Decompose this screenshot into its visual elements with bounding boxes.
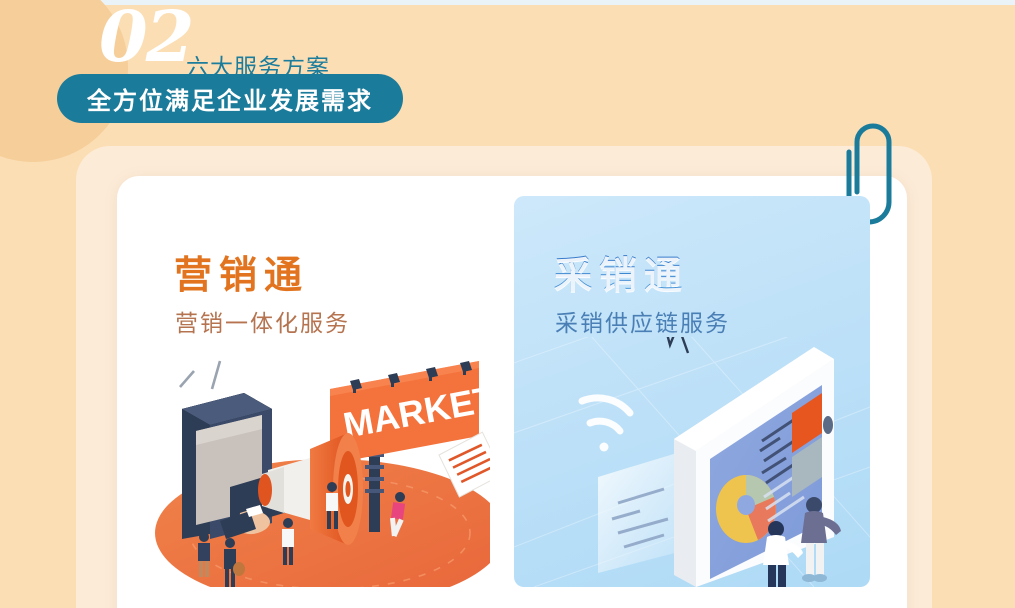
section-number: 02 xyxy=(99,2,192,72)
wifi-icon xyxy=(582,398,630,452)
service-card-marketing[interactable]: 营销通 营销一体化服务 xyxy=(134,196,490,587)
card-title: 采销通 xyxy=(554,244,689,299)
page-root: 02 六大服务方案 全方位满足企业发展需求 营销通 营销一体化服务 xyxy=(0,0,1015,608)
trend-line-shape xyxy=(662,337,688,353)
card-title: 营销通 xyxy=(174,244,309,299)
card-subtitle: 采销供应链服务 xyxy=(555,304,730,338)
card-subtitle: 营销一体化服务 xyxy=(175,304,350,338)
section-pill-badge: 全方位满足企业发展需求 xyxy=(57,74,403,123)
service-card-procurement[interactable]: 采销通 采销供应链服务 xyxy=(514,196,870,587)
section-pill-label: 全方位满足企业发展需求 xyxy=(87,81,373,116)
marketing-illustration: MARKET xyxy=(134,337,490,587)
supply-chain-illustration xyxy=(514,337,870,587)
